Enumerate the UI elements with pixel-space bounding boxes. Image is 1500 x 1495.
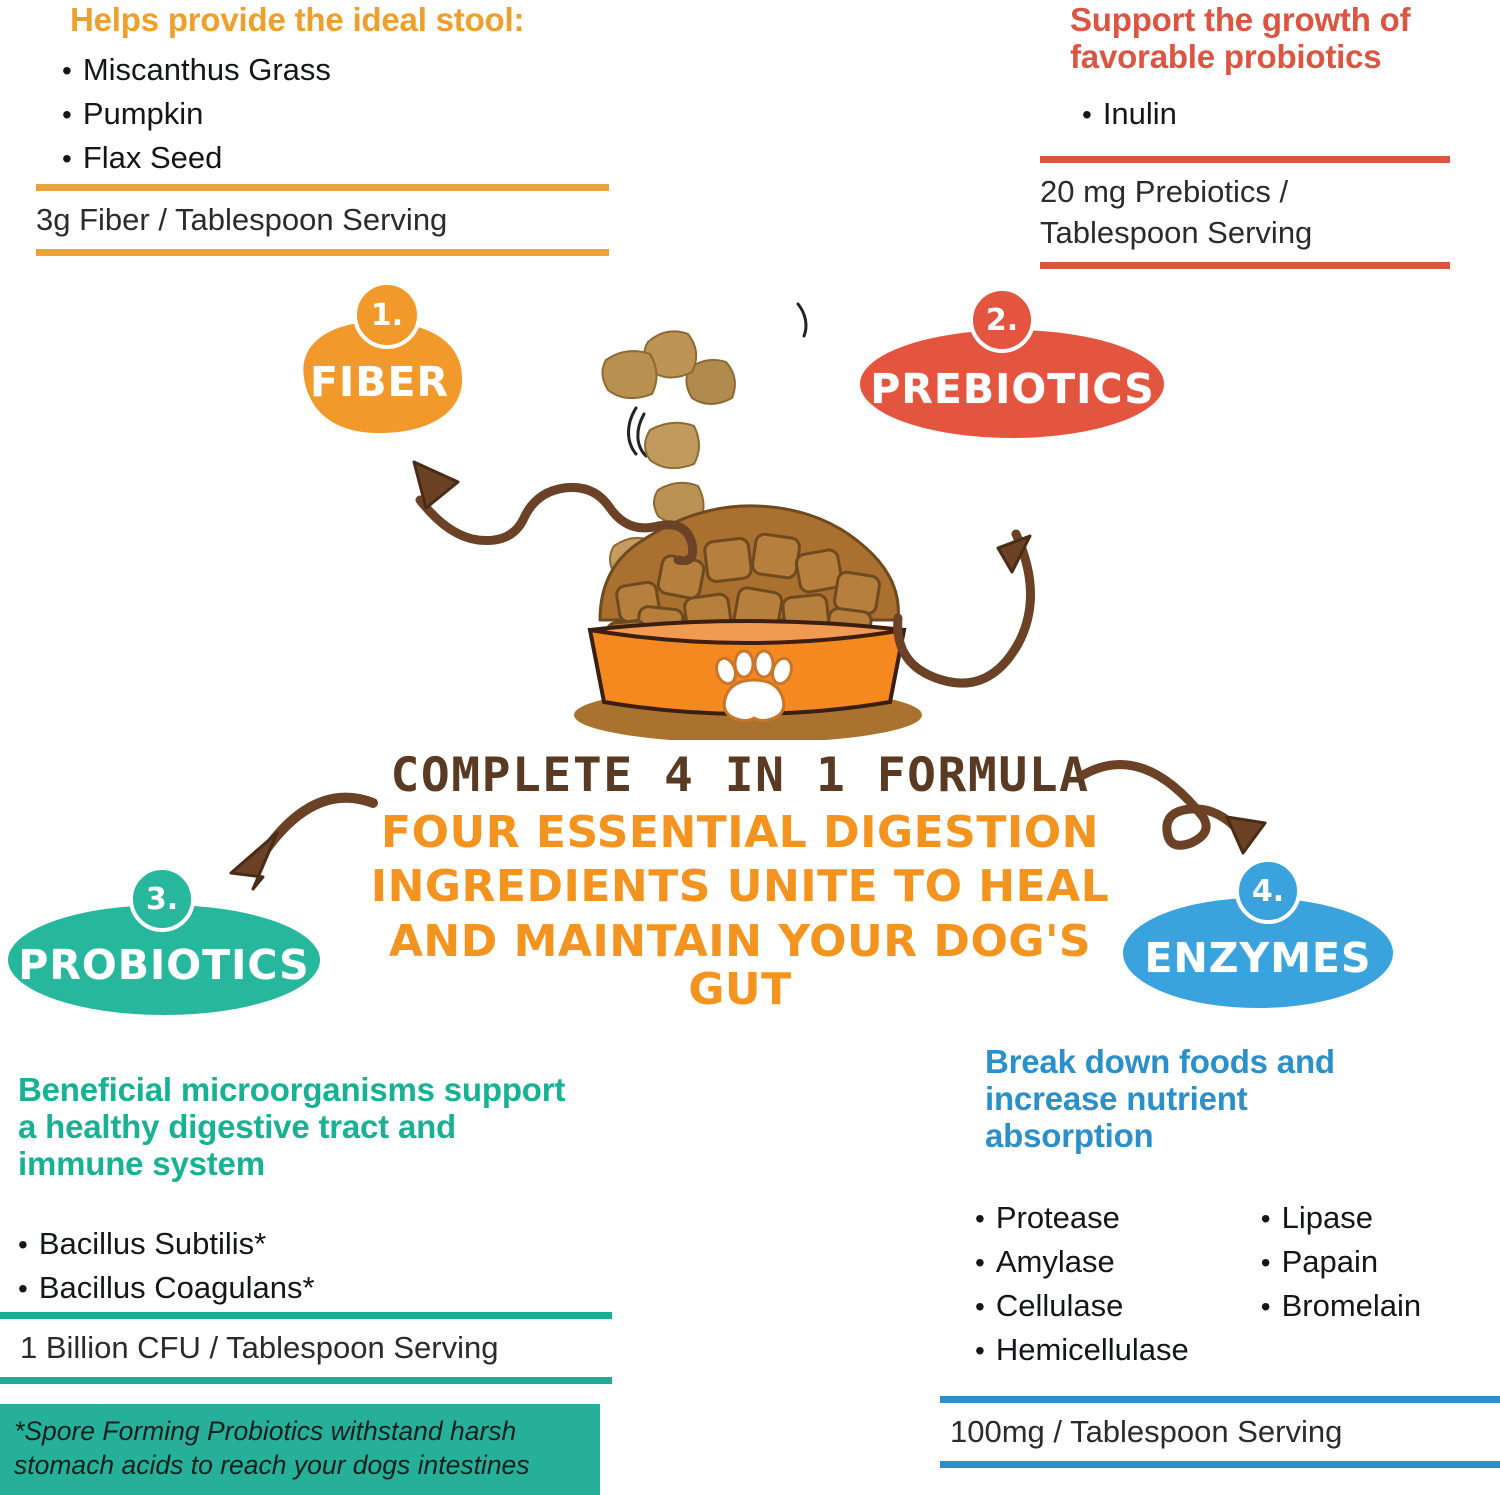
probiotics-dose-block: 1 Billion CFU / Tablespoon Serving	[0, 1312, 612, 1384]
formula-subtitle-3: AND MAINTAIN YOUR DOG'S GUT	[370, 918, 1110, 1015]
arrow-to-probiotics-icon	[205, 755, 415, 895]
fiber-ingredient-list: Miscanthus Grass Pumpkin Flax Seed	[62, 48, 622, 180]
fiber-dose-block: 3g Fiber / Tablespoon Serving	[36, 184, 609, 256]
probiotics-footnote: *Spore Forming Probiotics withstand hars…	[0, 1404, 600, 1495]
divider-top	[36, 184, 609, 191]
list-item: Papain	[1261, 1240, 1421, 1284]
fiber-heading: Helps provide the ideal stool:	[70, 2, 630, 39]
arrow-to-fiber-icon	[360, 420, 720, 600]
list-item: Amylase	[975, 1240, 1189, 1284]
divider-bottom	[1040, 262, 1450, 269]
badge-enzymes-label: ENZYMES	[1144, 934, 1371, 982]
list-item: Lipase	[1261, 1196, 1421, 1240]
divider-bottom	[36, 249, 609, 256]
divider-top	[940, 1396, 1500, 1403]
divider-top	[0, 1312, 612, 1319]
enzymes-dose-block: 100mg / Tablespoon Serving	[940, 1396, 1500, 1468]
list-item: Bacillus Coagulans*	[18, 1266, 578, 1310]
prebiotics-dose-block: 20 mg Prebiotics / Tablespoon Serving	[1040, 156, 1450, 269]
badge-probiotics-label: PROBIOTICS	[18, 941, 309, 989]
list-item: Cellulase	[975, 1284, 1189, 1328]
arrow-to-prebiotics-icon	[880, 440, 1080, 690]
enzymes-heading: Break down foods and increase nutrient a…	[985, 1044, 1415, 1155]
divider-top	[1040, 156, 1450, 163]
enzymes-ingredient-columns: Protease Amylase Cellulase Hemicellulase…	[975, 1196, 1495, 1372]
enzymes-dose-text: 100mg / Tablespoon Serving	[940, 1403, 1500, 1461]
badge-fiber-number: 1.	[353, 281, 421, 349]
list-item: Bromelain	[1261, 1284, 1421, 1328]
list-item: Flax Seed	[62, 136, 622, 180]
probiotics-dose-text: 1 Billion CFU / Tablespoon Serving	[0, 1319, 612, 1377]
formula-text-block: COMPLETE 4 IN 1 FORMULA FOUR ESSENTIAL D…	[370, 748, 1110, 1015]
prebiotics-ingredient-list: Inulin	[1082, 92, 1482, 136]
fiber-dose-text: 3g Fiber / Tablespoon Serving	[36, 191, 609, 249]
list-item: Miscanthus Grass	[62, 48, 622, 92]
badge-probiotics-number: 3.	[129, 866, 195, 932]
list-item: Protease	[975, 1196, 1189, 1240]
list-item: Hemicellulase	[975, 1328, 1189, 1372]
formula-subtitle-2: INGREDIENTS UNITE TO HEAL	[370, 863, 1110, 911]
badge-enzymes-number: 4.	[1235, 858, 1301, 924]
list-item: Pumpkin	[62, 92, 622, 136]
badge-fiber-label: FIBER	[310, 358, 449, 406]
prebiotics-heading: Support the growth of favorable probioti…	[1070, 2, 1490, 76]
prebiotics-dose-text: 20 mg Prebiotics / Tablespoon Serving	[1040, 163, 1450, 262]
formula-subtitle-1: FOUR ESSENTIAL DIGESTION	[370, 809, 1110, 857]
badge-prebiotics-number: 2.	[969, 287, 1035, 353]
formula-title: COMPLETE 4 IN 1 FORMULA	[363, 748, 1118, 803]
list-item: Bacillus Subtilis*	[18, 1222, 578, 1266]
badge-prebiotics-label: PREBIOTICS	[870, 365, 1155, 413]
divider-bottom	[940, 1461, 1500, 1468]
enzymes-column-2: Lipase Papain Bromelain	[1261, 1196, 1421, 1372]
list-item: Inulin	[1082, 92, 1482, 136]
probiotics-heading: Beneficial microorganisms support a heal…	[18, 1072, 578, 1183]
divider-bottom	[0, 1377, 612, 1384]
probiotics-ingredient-list: Bacillus Subtilis* Bacillus Coagulans*	[18, 1222, 578, 1310]
enzymes-column-1: Protease Amylase Cellulase Hemicellulase	[975, 1196, 1189, 1372]
